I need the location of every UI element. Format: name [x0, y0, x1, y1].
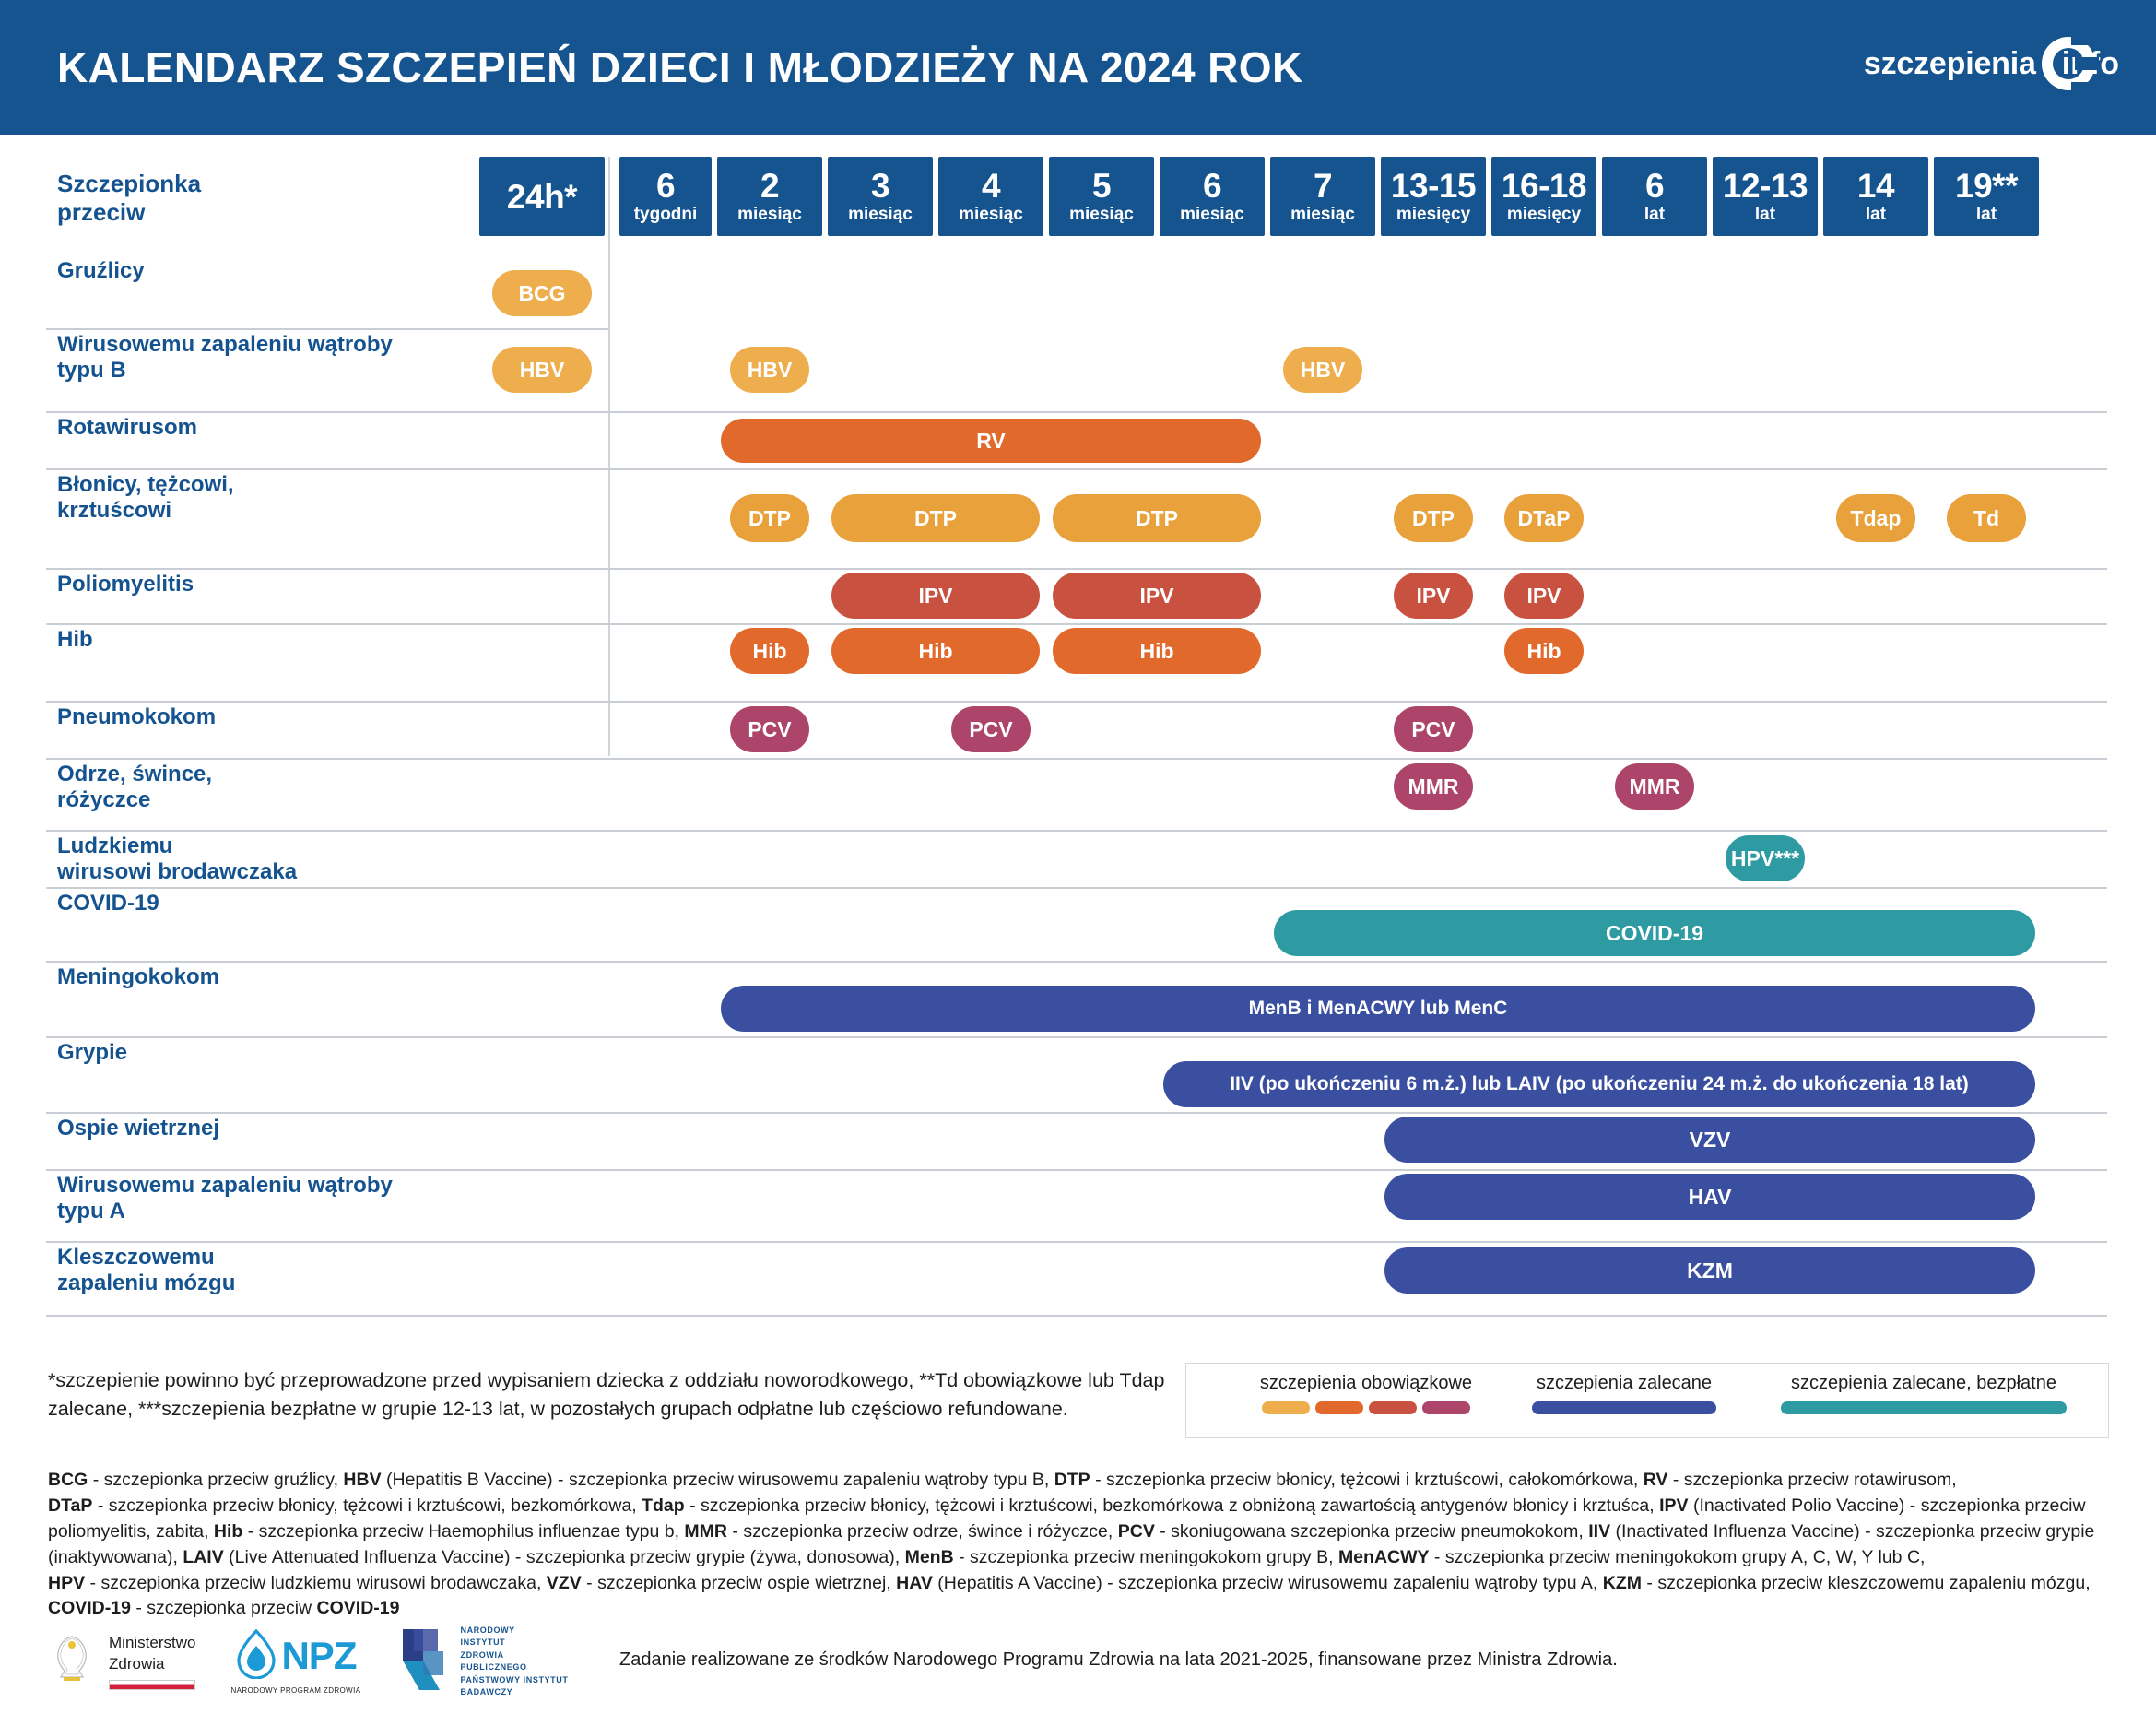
- legend-label: szczepienia zalecane: [1518, 1373, 1730, 1394]
- column-header-7-miesi-c: 7miesiąc: [1270, 157, 1375, 236]
- column-header-value: 24h*: [507, 180, 577, 214]
- row-divider: [46, 758, 2107, 760]
- ministry-name-line2: Zdrowia: [109, 1654, 195, 1675]
- vaccine-pill-ipv[interactable]: IPV: [1053, 573, 1261, 619]
- vaccine-pill-rv[interactable]: RV: [721, 419, 1261, 463]
- legend-label: szczepienia zalecane, bezpłatne: [1767, 1373, 2080, 1394]
- vaccine-pill-covid-19[interactable]: COVID-19: [1274, 910, 2035, 956]
- vaccine-pill-mmr[interactable]: MMR: [1394, 763, 1473, 810]
- nizp-pzh-logo: NARODOWYINSTYTUTZDROWIAPUBLICZNEGOPAŃSTW…: [395, 1624, 568, 1700]
- pzh-name-line-1: INSTYTUT: [460, 1637, 568, 1649]
- column-header-unit: tygodni: [634, 206, 698, 225]
- column-header-unit: miesiąc: [848, 206, 913, 225]
- legend-swatch: [1315, 1401, 1363, 1414]
- infographic-page: KALENDARZ SZCZEPIEŃ DZIECI I MŁODZIEŻY N…: [0, 0, 2156, 1714]
- vaccination-schedule-table: Szczepionka przeciw 24h*6tygodni2miesiąc…: [0, 135, 2156, 1352]
- vaccine-pill-hav[interactable]: HAV: [1384, 1174, 2035, 1220]
- column-header-3-miesi-c: 3miesiąc: [828, 157, 933, 236]
- vaccine-pill-pcv[interactable]: PCV: [730, 706, 809, 752]
- glossary-line-0: BCG - szczepionka przeciw gruźlicy, HBV …: [48, 1468, 2122, 1494]
- legend-swatch: [1369, 1401, 1417, 1414]
- column-header-unit: miesięcy: [1396, 206, 1470, 225]
- column-header-value: 7: [1314, 169, 1332, 203]
- npz-word: NPZ: [281, 1634, 356, 1678]
- glossary-line-3: (inaktywowana), LAIV (Live Attenuated In…: [48, 1545, 2122, 1571]
- column-divider: [608, 157, 610, 756]
- row-divider: [46, 1112, 2107, 1114]
- column-header-value: 6: [1203, 169, 1221, 203]
- column-header-unit: miesiąc: [1290, 206, 1355, 225]
- column-header-value: 6: [1645, 169, 1664, 203]
- row-label-kleszczowemu: Kleszczowemu zapaleniu mózgu: [57, 1245, 235, 1297]
- vaccine-pill-ipv[interactable]: IPV: [831, 573, 1040, 619]
- column-header-unit: miesiąc: [1180, 206, 1244, 225]
- row-divider: [46, 887, 2107, 889]
- brand-logo: szczepienia info: [1864, 33, 2119, 94]
- column-header-13-15-miesi-cy: 13-15miesięcy: [1381, 157, 1486, 236]
- vaccine-pill-bcg[interactable]: BCG: [492, 270, 592, 316]
- vaccine-pill-dtp[interactable]: DTP: [730, 494, 809, 542]
- column-header-unit: miesiąc: [959, 206, 1023, 225]
- row-divider: [46, 1169, 2107, 1171]
- pzh-institute-name: NARODOWYINSTYTUTZDROWIAPUBLICZNEGOPAŃSTW…: [460, 1625, 568, 1699]
- legend-item-2: szczepienia zalecane, bezpłatne: [1767, 1373, 2080, 1414]
- row-label-pneumokokom: Pneumokokom: [57, 704, 216, 730]
- vaccine-pill-hib[interactable]: Hib: [1504, 628, 1584, 674]
- row-label-b-onicy-t-cowi-: Błonicy, tężcowi, krztuścowi: [57, 472, 234, 525]
- table-corner-label: Szczepionka przeciw: [57, 170, 201, 227]
- vaccine-pill-hib[interactable]: Hib: [730, 628, 809, 674]
- row-label-ospie-wietrznej: Ospie wietrznej: [57, 1116, 219, 1141]
- pzh-name-line-3: PUBLICZNEGO: [460, 1661, 568, 1674]
- vaccine-pill-hpv[interactable]: HPV***: [1726, 835, 1805, 881]
- column-header-value: 12-13: [1723, 169, 1808, 203]
- column-header-value: 14: [1857, 169, 1894, 203]
- row-divider: [46, 468, 2107, 470]
- legend-swatch: [1262, 1401, 1310, 1414]
- row-divider: [46, 568, 2107, 570]
- pzh-name-line-2: ZDROWIA: [460, 1649, 568, 1662]
- legend-swatch-group: [1767, 1401, 2080, 1414]
- polish-flag-bar: [109, 1680, 195, 1690]
- row-divider: [46, 1036, 2107, 1038]
- vaccine-pill-tdap[interactable]: Tdap: [1836, 494, 1915, 542]
- vaccine-pill-pcv[interactable]: PCV: [1394, 706, 1473, 752]
- footer-logos: Ministerstwo Zdrowia NPZ NARODOWY PROGRA…: [44, 1619, 568, 1704]
- vaccine-pill-hbv[interactable]: HBV: [730, 347, 809, 393]
- column-header-value: 16-18: [1502, 169, 1586, 203]
- pzh-name-line-0: NARODOWY: [460, 1625, 568, 1637]
- vaccine-pill-dtap[interactable]: DTaP: [1504, 494, 1584, 542]
- column-header-14-lat: 14lat: [1823, 157, 1928, 236]
- abbreviation-glossary: BCG - szczepionka przeciw gruźlicy, HBV …: [48, 1468, 2122, 1622]
- vaccine-pill-td[interactable]: Td: [1947, 494, 2026, 542]
- column-header-value: 19**: [1955, 169, 2018, 203]
- row-divider: [46, 1241, 2107, 1243]
- column-header-16-18-miesi-cy: 16-18miesięcy: [1491, 157, 1596, 236]
- row-label-rotawirusom: Rotawirusom: [57, 415, 197, 441]
- npz-logo: NPZ NARODOWY PROGRAM ZDROWIA: [230, 1629, 360, 1695]
- column-header-unit: lat: [1755, 206, 1775, 225]
- vaccine-pill-ipv[interactable]: IPV: [1504, 573, 1584, 619]
- column-header-value: 13-15: [1391, 169, 1476, 203]
- vaccine-pill-kzm[interactable]: KZM: [1384, 1247, 2035, 1294]
- row-divider: [46, 411, 2107, 413]
- legend-swatch-group: [1251, 1401, 1481, 1414]
- row-label-gru-licy: Gruźlicy: [57, 258, 145, 284]
- pzh-name-line-4: PAŃSTWOWY INSTYTUT: [460, 1674, 568, 1687]
- row-divider: [46, 701, 2107, 703]
- column-header-value: 5: [1092, 169, 1111, 203]
- footnotes: *szczepienie powinno być przeprowadzone …: [48, 1366, 1182, 1423]
- row-divider: [46, 961, 2107, 963]
- row-label-ludzkiemu: Ludzkiemu wirusowi brodawczaka: [57, 833, 297, 886]
- pzh-name-line-5: BADAWCZY: [460, 1686, 568, 1699]
- row-label-hib: Hib: [57, 627, 93, 653]
- column-header-unit: lat: [1976, 206, 1997, 225]
- column-header-19--lat: 19**lat: [1934, 157, 2039, 236]
- legend-item-0: szczepienia obowiązkowe: [1251, 1373, 1481, 1414]
- column-header-12-13-lat: 12-13lat: [1713, 157, 1818, 236]
- vaccine-pill-dtp[interactable]: DTP: [831, 494, 1040, 542]
- column-header-unit: lat: [1644, 206, 1665, 225]
- npz-subtitle: NARODOWY PROGRAM ZDROWIA: [230, 1686, 360, 1695]
- row-label-poliomyelitis: Poliomyelitis: [57, 572, 194, 597]
- vaccine-pill-hbv[interactable]: HBV: [1283, 347, 1362, 393]
- column-header-unit: lat: [1866, 206, 1886, 225]
- circle-c-icon: [2038, 33, 2099, 94]
- legend-swatch-group: [1518, 1401, 1730, 1414]
- legend-item-1: szczepienia zalecane: [1518, 1373, 1730, 1414]
- page-title: KALENDARZ SZCZEPIEŃ DZIECI I MŁODZIEŻY N…: [57, 42, 1303, 92]
- row-divider: [46, 623, 2107, 625]
- vaccine-pill-vzv[interactable]: VZV: [1384, 1117, 2035, 1163]
- column-header-unit: miesięcy: [1507, 206, 1581, 225]
- vaccine-pill-ipv[interactable]: IPV: [1394, 573, 1473, 619]
- header-bar: KALENDARZ SZCZEPIEŃ DZIECI I MŁODZIEŻY N…: [0, 0, 2156, 135]
- ministry-of-health-logo: Ministerstwo Zdrowia: [44, 1629, 195, 1695]
- vaccine-pill-dtp[interactable]: DTP: [1053, 494, 1261, 542]
- legend-swatch: [1422, 1401, 1470, 1414]
- column-header-value: 3: [871, 169, 889, 203]
- vaccine-pill-pcv[interactable]: PCV: [951, 706, 1031, 752]
- column-header-6-lat: 6lat: [1602, 157, 1707, 236]
- column-header-unit: miesiąc: [737, 206, 802, 225]
- legend-swatch: [1781, 1401, 2067, 1414]
- brand-word: szczepienia: [1864, 46, 2036, 82]
- ministry-name-line1: Ministerstwo: [109, 1633, 195, 1654]
- row-divider: [46, 328, 608, 330]
- column-header-24h-: 24h*: [479, 157, 605, 236]
- glossary-line-1: DTaP - szczepionka przeciw błonicy, tężc…: [48, 1494, 2122, 1519]
- column-header-value: 6: [656, 169, 675, 203]
- legend-label: szczepienia obowiązkowe: [1251, 1373, 1481, 1394]
- vaccine-pill-dtp[interactable]: DTP: [1394, 494, 1473, 542]
- column-header-2-miesi-c: 2miesiąc: [717, 157, 822, 236]
- glossary-line-2: poliomyelitis, zabita, Hib - szczepionka…: [48, 1519, 2122, 1545]
- npz-drop-icon: [235, 1629, 277, 1684]
- column-header-5-miesi-c: 5miesiąc: [1049, 157, 1154, 236]
- column-header-value: 4: [982, 169, 1000, 203]
- row-label-meningokokom: Meningokokom: [57, 964, 219, 990]
- vaccine-pill-hbv[interactable]: HBV: [492, 347, 592, 393]
- vaccine-pill-iiv[interactable]: IIV (po ukończeniu 6 m.ż.) lub LAIV (po …: [1163, 1061, 2035, 1107]
- legend: szczepienia obowiązkoweszczepienia zalec…: [1185, 1363, 2109, 1438]
- pzh-monogram-icon: [395, 1624, 453, 1700]
- row-label-odrze-wince-: Odrze, śwince, różyczce: [57, 762, 212, 814]
- glossary-line-4: HPV - szczepionka przeciw ludzkiemu wiru…: [48, 1571, 2122, 1597]
- row-divider: [46, 830, 2107, 832]
- row-label-wirusowemu-zapaleniu-w-troby: Wirusowemu zapaleniu wątroby typu B: [57, 332, 393, 384]
- funding-note: Zadanie realizowane ze środków Narodoweg…: [619, 1649, 1618, 1671]
- legend-swatch: [1532, 1401, 1716, 1414]
- column-header-value: 2: [760, 169, 779, 203]
- row-divider: [46, 1315, 2107, 1317]
- column-header-6-miesi-c: 6miesiąc: [1160, 157, 1265, 236]
- vaccine-pill-menb[interactable]: MenB i MenACWY lub MenC: [721, 986, 2035, 1032]
- vaccine-pill-hib[interactable]: Hib: [831, 628, 1040, 674]
- vaccine-pill-mmr[interactable]: MMR: [1615, 763, 1694, 810]
- row-label-wirusowemu-zapaleniu-w-troby: Wirusowemu zapaleniu wątroby typu A: [57, 1173, 393, 1225]
- polish-eagle-icon: [44, 1629, 100, 1695]
- vaccine-pill-hib[interactable]: Hib: [1053, 628, 1261, 674]
- column-header-6-tygodni: 6tygodni: [619, 157, 712, 236]
- row-label-grypie: Grypie: [57, 1040, 127, 1066]
- column-header-4-miesi-c: 4miesiąc: [938, 157, 1043, 236]
- column-header-unit: miesiąc: [1069, 206, 1134, 225]
- row-label-covid-19: COVID-19: [57, 891, 159, 916]
